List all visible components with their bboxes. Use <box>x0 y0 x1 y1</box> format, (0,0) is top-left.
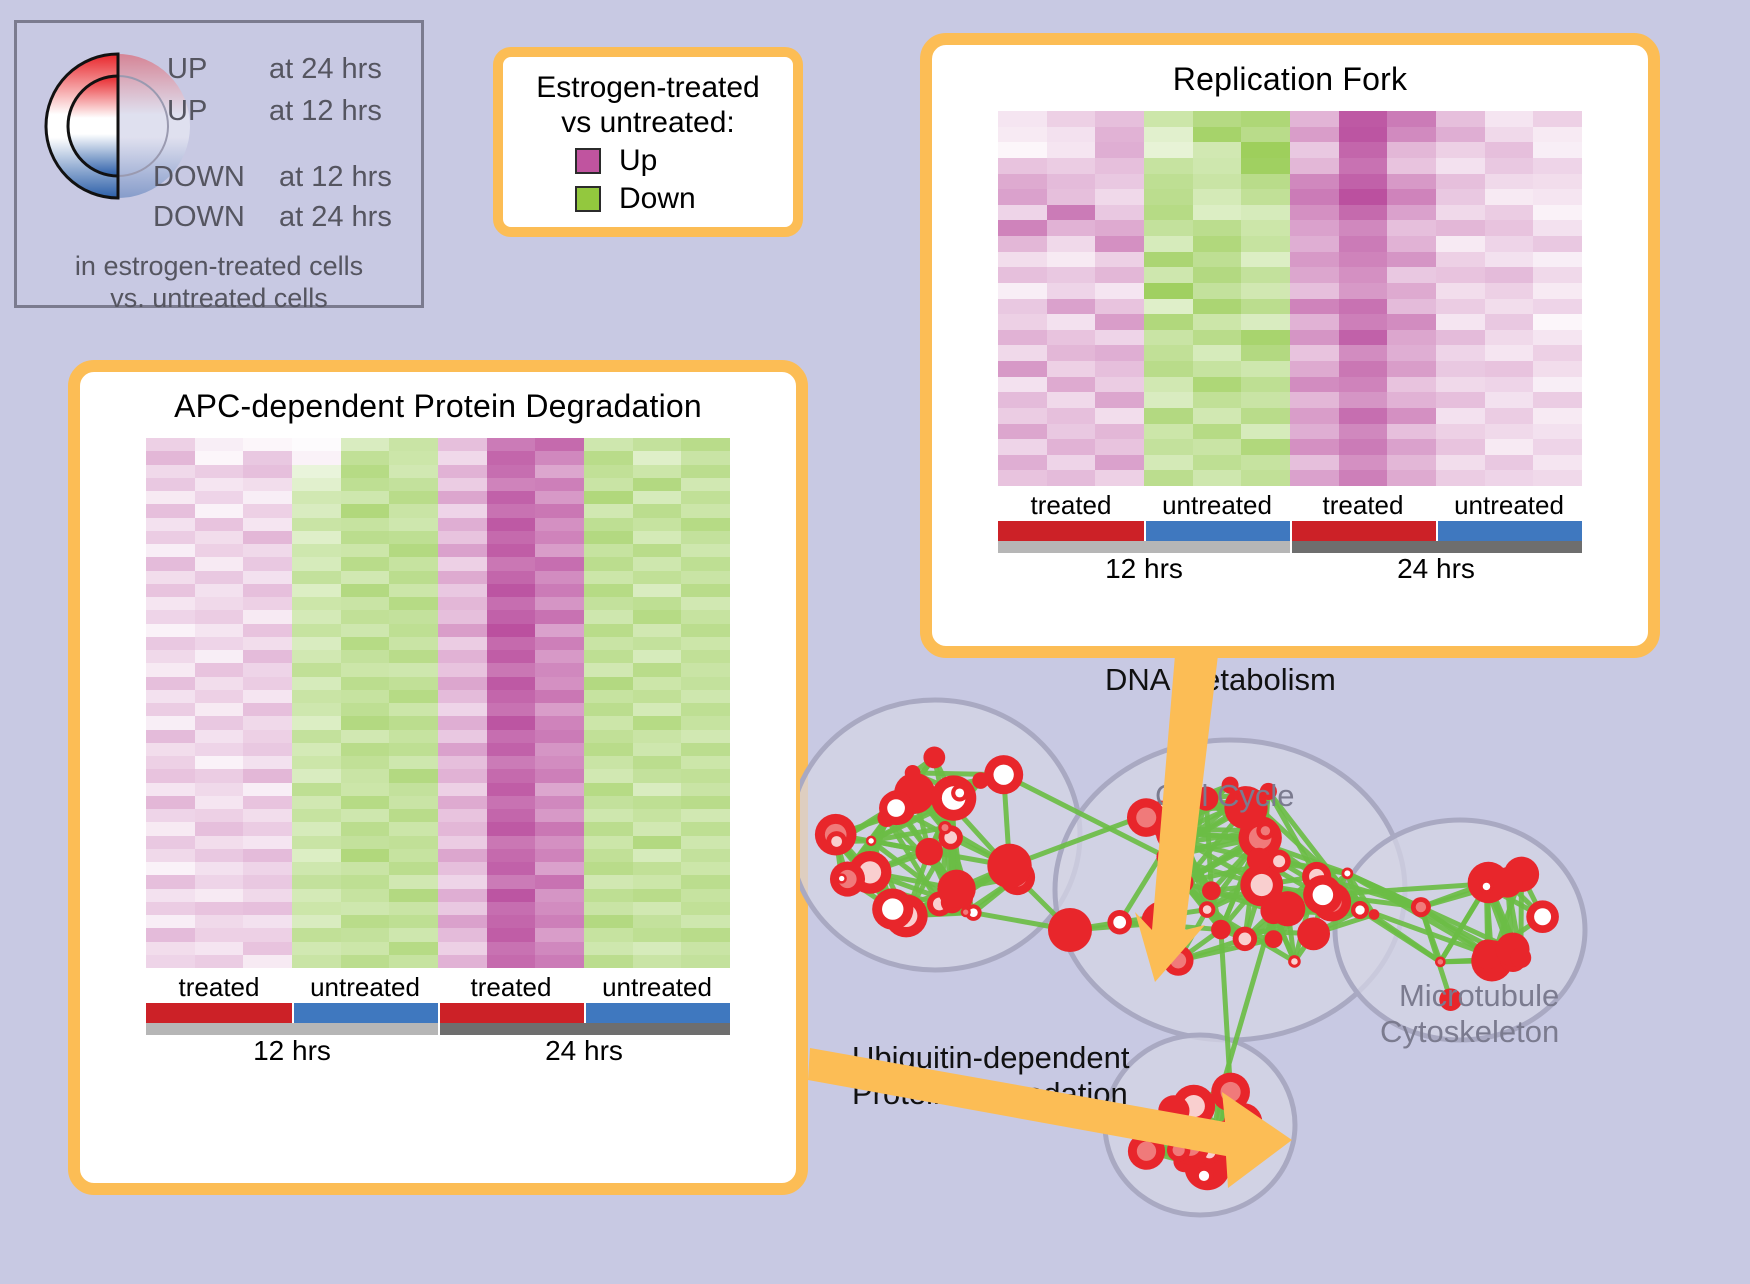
heatmap-cell <box>243 504 292 517</box>
heatmap-cell <box>341 531 390 544</box>
heatmap-cell <box>243 690 292 703</box>
heatmap-cell <box>389 796 438 809</box>
heatmap-cell <box>681 862 730 875</box>
heatmap-cell <box>681 942 730 955</box>
heatmap-cell <box>341 809 390 822</box>
key-word-3: DOWN <box>153 201 245 234</box>
network-node[interactable] <box>972 772 989 789</box>
heatmap-cell <box>243 478 292 491</box>
heatmap-cell <box>633 531 682 544</box>
heatmap-cell <box>584 663 633 676</box>
heatmap-cell <box>1485 205 1534 221</box>
heatmap-cell <box>438 849 487 862</box>
key-time-2: at 12 hrs <box>279 161 392 194</box>
heatmap-cell <box>1095 345 1144 361</box>
heatmap-cell <box>681 571 730 584</box>
heatmap-cell <box>341 955 390 968</box>
axis-group-label: untreated <box>1436 490 1582 521</box>
heatmap-cell <box>1339 314 1388 330</box>
heatmap-cell <box>1144 345 1193 361</box>
axis-group-label: untreated <box>1144 490 1290 521</box>
heatmap-cell <box>681 769 730 782</box>
heatmap-cell <box>681 836 730 849</box>
heatmap-cell <box>438 544 487 557</box>
heatmap-cell <box>1533 142 1582 158</box>
heatmap-cell <box>1144 111 1193 127</box>
heatmap-cell <box>195 504 244 517</box>
heatmap-cell <box>633 677 682 690</box>
network-node[interactable] <box>1265 930 1283 948</box>
heatmap-cell <box>487 451 536 464</box>
heatmap-cell <box>146 915 195 928</box>
heatmap-cell <box>1095 424 1144 440</box>
heatmap-cell <box>1193 361 1242 377</box>
heatmap-cell <box>389 743 438 756</box>
heatmap-cell <box>1290 470 1339 486</box>
network-node[interactable] <box>1511 947 1532 968</box>
heatmap-cell <box>389 650 438 663</box>
heatmap-cell <box>389 531 438 544</box>
heatmap-cell <box>1339 299 1388 315</box>
heatmap-cell <box>633 518 682 531</box>
heatmap-cell <box>438 690 487 703</box>
heatmap-apc-degradation <box>146 438 730 968</box>
heatmap-cell <box>243 544 292 557</box>
heatmap-cell <box>195 796 244 809</box>
heatmap-cell <box>1533 252 1582 268</box>
network-node[interactable] <box>1492 867 1522 897</box>
heatmap-cell <box>1241 314 1290 330</box>
heatmap-cell <box>1095 236 1144 252</box>
heatmap-cell <box>1193 377 1242 393</box>
heatmap-cell <box>195 650 244 663</box>
heatmap-cell <box>1193 111 1242 127</box>
network-node[interactable] <box>937 870 975 908</box>
heatmap-cell <box>341 783 390 796</box>
heatmap-cell <box>1047 439 1096 455</box>
heatmap-cell <box>1533 345 1582 361</box>
network-node-core <box>1416 902 1426 912</box>
heatmap-cell <box>292 836 341 849</box>
heatmap-cell <box>146 875 195 888</box>
heatmap-cell <box>1290 283 1339 299</box>
heatmap-cell <box>292 796 341 809</box>
heatmap-cell <box>292 756 341 769</box>
heatmap-cell <box>195 955 244 968</box>
heatmap-cell <box>1485 127 1534 143</box>
heatmap-cell <box>633 465 682 478</box>
heatmap-cell <box>1387 408 1436 424</box>
heatmap-cell <box>438 809 487 822</box>
heatmap-cell <box>146 849 195 862</box>
heatmap-cell <box>681 849 730 862</box>
heatmap-cell <box>1533 189 1582 205</box>
axis-group-labels-apc: treated untreated treated untreated <box>146 972 730 1003</box>
network-node-core <box>1170 953 1186 969</box>
heatmap-cell <box>438 836 487 849</box>
heatmap-cell <box>146 518 195 531</box>
heatmap-cell <box>584 438 633 451</box>
heatmap-cell <box>1144 408 1193 424</box>
heatmap-cell <box>633 557 682 570</box>
heatmap-cell <box>1241 189 1290 205</box>
heatmap-cell <box>1533 470 1582 486</box>
heatmap-cell <box>146 491 195 504</box>
axis-group-label: treated <box>1290 490 1436 521</box>
heatmap-cell <box>633 438 682 451</box>
network-node[interactable] <box>923 747 945 769</box>
heatmap-cell <box>146 584 195 597</box>
heatmap-cell <box>1290 142 1339 158</box>
heatmap-cell <box>1387 220 1436 236</box>
heatmap-cell <box>146 438 195 451</box>
heatmap-cell <box>292 451 341 464</box>
heatmap-cell <box>1436 236 1485 252</box>
heatmap-cell <box>292 478 341 491</box>
heatmap-cell <box>341 451 390 464</box>
heatmap-cell <box>146 610 195 623</box>
heatmap-cell <box>633 597 682 610</box>
heatmap-cell <box>389 889 438 902</box>
heatmap-cell <box>1047 330 1096 346</box>
heatmap-cell <box>195 730 244 743</box>
heatmap-cell <box>1047 361 1096 377</box>
network-node[interactable] <box>987 844 1031 888</box>
heatmap-cell <box>146 663 195 676</box>
heatmap-cell <box>584 650 633 663</box>
heatmap-cell <box>1533 377 1582 393</box>
heatmap-cell <box>998 205 1047 221</box>
heatmap-cell <box>1290 314 1339 330</box>
axis-group-label: untreated <box>292 972 438 1003</box>
heatmap-replication-fork <box>998 111 1582 486</box>
heatmap-cell <box>195 544 244 557</box>
network-node-core <box>1273 855 1285 867</box>
heatmap-cell <box>1193 267 1242 283</box>
heatmap-cell <box>1436 111 1485 127</box>
heatmap-cell <box>1485 470 1534 486</box>
heatmap-cell <box>1533 424 1582 440</box>
heatmap-cell <box>1387 236 1436 252</box>
heatmap-cell <box>1436 345 1485 361</box>
heatmap-cell <box>487 663 536 676</box>
heatmap-cell <box>1339 142 1388 158</box>
network-node[interactable] <box>1202 881 1221 900</box>
heatmap-cell <box>1533 314 1582 330</box>
network-node[interactable] <box>1247 848 1272 873</box>
heatmap-cell <box>389 518 438 531</box>
heatmap-cell <box>998 174 1047 190</box>
heatmap-cell <box>146 544 195 557</box>
heatmap-cell <box>633 822 682 835</box>
up-swatch-icon <box>575 148 601 174</box>
network-node[interactable] <box>1211 920 1231 940</box>
heatmap-cell <box>341 571 390 584</box>
heatmap-cell <box>341 610 390 623</box>
heatmap-cell <box>1193 314 1242 330</box>
heatmap-cell <box>1485 283 1534 299</box>
heatmap-cell <box>1193 127 1242 143</box>
heatmap-cell <box>1193 439 1242 455</box>
heatmap-cell <box>438 491 487 504</box>
heatmap-cell <box>341 730 390 743</box>
network-label-dna-metabolism: DNA Metabolism <box>1105 662 1336 698</box>
heatmap-cell <box>535 862 584 875</box>
heatmap-cell <box>1436 424 1485 440</box>
heatmap-cell <box>243 928 292 941</box>
heatmap-cell <box>1339 174 1388 190</box>
heatmap-cell <box>1047 345 1096 361</box>
heatmap-cell <box>633 955 682 968</box>
heatmap-cell <box>341 663 390 676</box>
heatmap-cell <box>681 557 730 570</box>
network-node[interactable] <box>1369 909 1380 920</box>
heatmap-cell <box>1095 377 1144 393</box>
heatmap-cell <box>341 862 390 875</box>
heatmap-cell <box>487 730 536 743</box>
heatmap-cell <box>535 849 584 862</box>
heatmap-cell <box>1290 127 1339 143</box>
heatmap-cell <box>1047 127 1096 143</box>
heatmap-cell <box>292 889 341 902</box>
heatmap-cell <box>1485 299 1534 315</box>
heatmap-cell <box>146 928 195 941</box>
heatmap-cell <box>195 836 244 849</box>
heatmap-cell <box>487 783 536 796</box>
heatmap-cell <box>195 531 244 544</box>
heatmap-cell <box>1436 439 1485 455</box>
heatmap-cell <box>633 650 682 663</box>
heatmap-cell <box>1533 455 1582 471</box>
axis-time-label: 24 hrs <box>438 1035 730 1067</box>
heatmap-cell <box>1533 174 1582 190</box>
heatmap-cell <box>535 465 584 478</box>
heatmap-cell <box>1047 314 1096 330</box>
heatmap-cell <box>1387 174 1436 190</box>
heatmap-cell <box>292 955 341 968</box>
heatmap-cell <box>1241 127 1290 143</box>
heatmap-cell <box>1241 330 1290 346</box>
heatmap-cell <box>243 862 292 875</box>
heatmap-cell <box>1290 299 1339 315</box>
heatmap-cell <box>487 915 536 928</box>
heatmap-cell <box>1241 377 1290 393</box>
network-node-core <box>1239 933 1252 946</box>
heatmap-cell <box>292 610 341 623</box>
heatmap-cell <box>341 743 390 756</box>
heatmap-cell <box>243 915 292 928</box>
heatmap-cell <box>438 531 487 544</box>
heatmap-cell <box>633 862 682 875</box>
heatmap-cell <box>1241 361 1290 377</box>
heatmap-cell <box>146 703 195 716</box>
heatmap-cell <box>1290 189 1339 205</box>
heatmap-cell <box>1290 236 1339 252</box>
heatmap-cell <box>1290 345 1339 361</box>
heatmap-cell <box>487 822 536 835</box>
key-caption-line1: in estrogen-treated cells <box>17 251 421 283</box>
heatmap-cell <box>1485 189 1534 205</box>
heatmap-cell <box>292 637 341 650</box>
axis-group-label: treated <box>998 490 1144 521</box>
heatmap-cell <box>1436 377 1485 393</box>
heatmap-cell <box>1193 158 1242 174</box>
network-node-core <box>942 824 949 831</box>
network-node-core <box>993 765 1013 785</box>
heatmap-cell <box>1047 189 1096 205</box>
heatmap-cell <box>341 491 390 504</box>
heatmap-cell <box>487 875 536 888</box>
network-node[interactable] <box>915 838 942 865</box>
heatmap-cell <box>487 809 536 822</box>
heatmap-cell <box>146 465 195 478</box>
heatmap-cell <box>1436 361 1485 377</box>
heatmap-cell <box>195 822 244 835</box>
heatmap-cell <box>195 637 244 650</box>
network-node[interactable] <box>905 765 921 781</box>
heatmap-cell <box>1533 392 1582 408</box>
heatmap-cell <box>1193 236 1242 252</box>
heatmap-cell <box>535 597 584 610</box>
heatmap-cell <box>195 451 244 464</box>
heatmap-cell <box>1485 158 1534 174</box>
heatmap-cell <box>195 677 244 690</box>
heatmap-cell <box>681 491 730 504</box>
heatmap-cell <box>681 783 730 796</box>
heatmap-cell <box>1485 361 1534 377</box>
heatmap-cell <box>195 478 244 491</box>
heatmap-cell <box>681 650 730 663</box>
heatmap-cell <box>146 942 195 955</box>
heatmap-cell <box>341 942 390 955</box>
legend-item-down: Down <box>575 182 793 216</box>
heatmap-cell <box>535 915 584 928</box>
network-node-core <box>1203 905 1212 914</box>
expression-key-box: UP at 24 hrs UP at 12 hrs DOWN at 12 hrs… <box>14 20 424 308</box>
heatmap-cell <box>389 849 438 862</box>
heatmap-cell <box>1339 189 1388 205</box>
network-node[interactable] <box>1270 891 1305 926</box>
label-line1: Ubiquitin-dependent <box>852 1040 1130 1076</box>
heatmap-cell <box>292 716 341 729</box>
heatmap-cell <box>487 716 536 729</box>
network-node-core <box>882 898 903 919</box>
heatmap-cell <box>535 610 584 623</box>
heatmap-cell <box>584 624 633 637</box>
heatmap-cell <box>681 677 730 690</box>
heatmap-cell <box>633 491 682 504</box>
network-node[interactable] <box>1297 917 1330 950</box>
axis-time-bars-rf <box>998 541 1582 553</box>
heatmap-cell <box>438 902 487 915</box>
heatmap-cell <box>1095 283 1144 299</box>
heatmap-cell <box>1290 252 1339 268</box>
heatmap-cell <box>633 875 682 888</box>
heatmap-cell <box>1193 455 1242 471</box>
heatmap-cell <box>341 796 390 809</box>
heatmap-cell <box>292 465 341 478</box>
heatmap-cell <box>584 531 633 544</box>
heatmap-cell <box>1387 361 1436 377</box>
heatmap-cell <box>1241 283 1290 299</box>
heatmap-cell <box>243 703 292 716</box>
heatmap-cell <box>146 783 195 796</box>
network-node[interactable] <box>1048 908 1092 952</box>
heatmap-cell <box>1339 252 1388 268</box>
heatmap-cell <box>146 862 195 875</box>
network-node-core <box>1173 1144 1185 1156</box>
heatmap-cell <box>633 624 682 637</box>
heatmap-cell <box>535 955 584 968</box>
heatmap-cell <box>487 637 536 650</box>
heatmap-cell <box>1193 299 1242 315</box>
heatmap-cell <box>195 663 244 676</box>
heatmap-cell <box>584 769 633 782</box>
heatmap-cell <box>1485 424 1534 440</box>
heatmap-cell <box>1290 111 1339 127</box>
heatmap-cell <box>584 557 633 570</box>
heatmap-cell <box>1533 361 1582 377</box>
heatmap-cell <box>438 756 487 769</box>
heatmap-cell <box>146 637 195 650</box>
heatmap-cell <box>998 299 1047 315</box>
heatmap-cell <box>1144 236 1193 252</box>
key-word-0: UP <box>167 53 207 86</box>
heatmap-cell <box>633 849 682 862</box>
legend-label-up: Up <box>619 144 657 178</box>
heatmap-cell <box>146 743 195 756</box>
heatmap-cell <box>535 928 584 941</box>
panel-replication-fork: Replication Fork treated untreated treat… <box>920 33 1660 658</box>
heatmap-cell <box>584 478 633 491</box>
heatmap-cell <box>584 716 633 729</box>
heatmap-cell <box>1144 252 1193 268</box>
heatmap-cell <box>584 902 633 915</box>
heatmap-cell <box>341 716 390 729</box>
heatmap-cell <box>243 836 292 849</box>
heatmap-cell <box>487 928 536 941</box>
heatmap-cell <box>292 650 341 663</box>
heatmap-cell <box>195 783 244 796</box>
heatmap-cell <box>487 796 536 809</box>
heatmap-cell <box>1047 299 1096 315</box>
heatmap-cell <box>1144 424 1193 440</box>
heatmap-cell <box>1241 345 1290 361</box>
network-node[interactable] <box>1158 1095 1189 1126</box>
heatmap-cell <box>633 783 682 796</box>
heatmap-cell <box>292 544 341 557</box>
heatmap-cell <box>1485 174 1534 190</box>
heatmap-cell <box>438 915 487 928</box>
heatmap-cell <box>438 624 487 637</box>
pathway-network-diagram: DNA Metabolism Cell Cycle Microtubule Cy… <box>800 600 1750 1279</box>
heatmap-cell <box>584 955 633 968</box>
heatmap-cell <box>243 769 292 782</box>
heatmap-cell <box>1290 455 1339 471</box>
network-node[interactable] <box>1141 901 1185 945</box>
heatmap-cell <box>438 862 487 875</box>
heatmap-cell <box>1436 330 1485 346</box>
heatmap-cell <box>535 889 584 902</box>
heatmap-cell <box>487 624 536 637</box>
heatmap-cell <box>584 942 633 955</box>
network-node-core <box>1137 1142 1156 1161</box>
heatmap-cell <box>487 743 536 756</box>
network-node-core <box>1355 905 1364 914</box>
heatmap-cell <box>1485 252 1534 268</box>
heatmap-cell <box>681 889 730 902</box>
heatmap-cell <box>292 571 341 584</box>
